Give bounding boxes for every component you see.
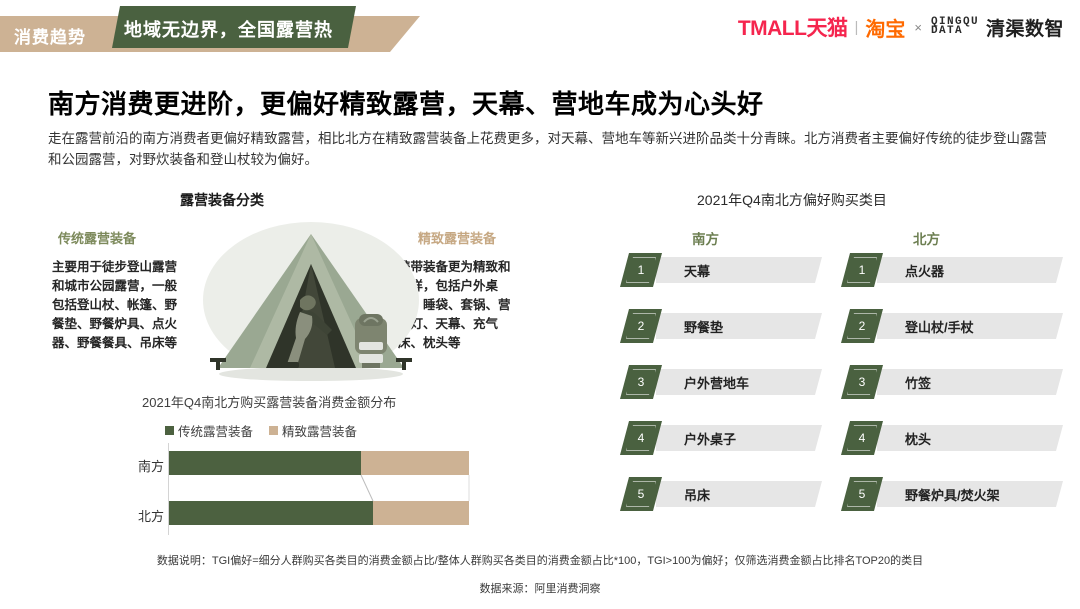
ranking-label: 点火器	[905, 257, 944, 283]
chart-bar-north	[169, 501, 469, 525]
ranking-item[interactable]: 2野餐垫	[620, 309, 822, 343]
legend-label-traditional: 传统露营装备	[178, 421, 253, 440]
traditional-gear-heading: 传统露营装备	[58, 228, 136, 247]
ranking-number: 2	[620, 309, 662, 343]
ranking-item[interactable]: 1天幕	[620, 253, 822, 287]
ranking-label: 野餐炉具/焚火架	[905, 481, 1000, 507]
ranking-label: 枕头	[905, 425, 931, 451]
ranking-column-header-north: 北方	[913, 228, 940, 248]
page-subtitle-paragraph: 走在露营前沿的南方消费者更偏好精致露营，相比北方在精致露营装备上花费更多，对天幕…	[48, 128, 1053, 170]
header-tag-label: 消费趋势	[14, 23, 86, 48]
ranking-item-bar	[656, 257, 822, 283]
cross-icon: ×	[912, 20, 924, 35]
ranking-item[interactable]: 2登山杖/手杖	[841, 309, 1063, 343]
chart-title: 2021年Q4南北方购买露营装备消费金额分布	[142, 392, 396, 411]
ranking-item-bar	[656, 313, 822, 339]
chart-legend: 传统露营装备 精致露营装备	[165, 421, 357, 440]
ranking-label: 户外营地车	[684, 369, 749, 395]
legend-swatch-traditional	[165, 426, 174, 435]
ranking-label: 吊床	[684, 481, 710, 507]
ranking-label: 天幕	[684, 257, 710, 283]
ranking-item[interactable]: 4枕头	[841, 421, 1063, 455]
tent-illustration	[196, 218, 426, 388]
ranking-number: 4	[841, 421, 883, 455]
stacked-bar-chart: 南方 北方	[120, 443, 470, 535]
ranking-item-bar	[656, 481, 822, 507]
header-banner-title: 地域无边界，全国露营热	[124, 16, 333, 42]
ranking-title: 2021年Q4南北方偏好购买类目	[697, 190, 887, 210]
ranking-number: 1	[841, 253, 883, 287]
ranking-item[interactable]: 5吊床	[620, 477, 822, 511]
logo-divider: |	[854, 19, 858, 36]
brand-logo-group: TMALL天猫 | 淘宝 × QINGQU DATA 清渠数智	[738, 12, 1064, 42]
chart-category-label-south: 南方	[120, 456, 164, 475]
ranking-number: 3	[620, 365, 662, 399]
qingqu-cn-logo: 清渠数智	[986, 14, 1064, 41]
ranking-number: 2	[841, 309, 883, 343]
qingqu-data-logo: QINGQU DATA	[931, 18, 979, 36]
legend-swatch-refined	[269, 426, 278, 435]
ranking-label: 户外桌子	[684, 425, 736, 451]
ranking-item[interactable]: 5野餐炉具/焚火架	[841, 477, 1063, 511]
traditional-gear-body: 主要用于徒步登山露营和城市公园露营，一般包括登山杖、帐篷、野餐垫、野餐炉具、点火…	[52, 258, 182, 353]
ranking-item[interactable]: 4户外桌子	[620, 421, 822, 455]
slide-root: 消费趋势 地域无边界，全国露营热 TMALL天猫 | 淘宝 × QINGQU D…	[0, 0, 1080, 609]
bar-segment-south-traditional	[169, 451, 361, 475]
ranking-item[interactable]: 1点火器	[841, 253, 1063, 287]
bar-segment-north-traditional	[169, 501, 373, 525]
legend-item-traditional: 传统露营装备	[165, 421, 253, 440]
ranking-number: 4	[620, 421, 662, 455]
chart-category-label-north: 北方	[120, 506, 164, 525]
ranking-number: 1	[620, 253, 662, 287]
taobao-logo: 淘宝	[865, 13, 905, 42]
legend-item-refined: 精致露营装备	[269, 421, 357, 440]
qingqu-logo-line2: DATA	[931, 27, 979, 36]
ranking-number: 5	[620, 477, 662, 511]
ranking-number: 5	[841, 477, 883, 511]
ranking-label: 竹签	[905, 369, 931, 395]
bar-segment-north-refined	[373, 501, 469, 525]
page-title: 南方消费更进阶，更偏好精致露营，天幕、营地车成为心头好	[48, 84, 764, 121]
legend-label-refined: 精致露营装备	[282, 421, 357, 440]
footer-note: 数据说明：TGI偏好=细分人群购买各类目的消费金额占比/整体人群购买各类目的消费…	[0, 552, 1080, 568]
ranking-label: 登山杖/手杖	[905, 313, 974, 339]
diagram-title: 露营装备分类	[180, 190, 264, 210]
ranking-item[interactable]: 3竹签	[841, 365, 1063, 399]
ranking-column-header-south: 南方	[692, 228, 719, 248]
refined-gear-heading: 精致露营装备	[418, 228, 496, 247]
backpack-icon	[355, 314, 387, 368]
ranking-label: 野餐垫	[684, 313, 723, 339]
ranking-number: 3	[841, 365, 883, 399]
chart-bar-south	[169, 451, 469, 475]
ranking-item[interactable]: 3户外营地车	[620, 365, 822, 399]
bar-segment-south-refined	[361, 451, 469, 475]
ranking-item-bar	[656, 425, 822, 451]
footer-source: 数据来源：阿里消费洞察	[0, 580, 1080, 596]
tmall-logo: TMALL天猫	[738, 12, 848, 42]
